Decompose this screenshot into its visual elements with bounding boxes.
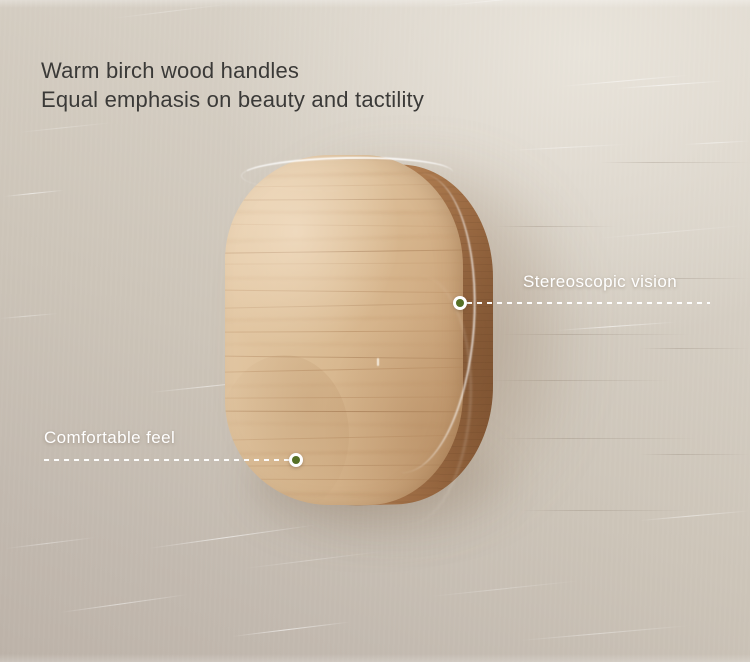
wall-streak: [4, 190, 64, 197]
annotation-marker-dot-stereoscopic-vision[interactable]: [453, 296, 467, 310]
product-feature-image: Warm birch wood handles Equal emphasis o…: [0, 0, 750, 662]
wall-streak: [640, 510, 750, 521]
wall-streak: [148, 524, 316, 549]
wall-streak: [556, 322, 676, 331]
wall-streak: [430, 580, 579, 597]
annotation-marker-dot-comfortable-feel[interactable]: [289, 453, 303, 467]
headline-line-2: Equal emphasis on beauty and tactility: [41, 85, 424, 114]
wall-streak: [684, 141, 750, 145]
bottom-edge-gradient: [0, 654, 750, 662]
wall-streak: [508, 144, 628, 151]
top-edge-gradient: [0, 0, 750, 8]
birch-wood-handle: [225, 155, 490, 510]
wall-streak: [0, 313, 58, 319]
wall-streak: [520, 625, 689, 641]
headline-line-1: Warm birch wood handles: [41, 56, 424, 85]
annotation-label-stereoscopic-vision: Stereoscopic vision: [523, 272, 677, 292]
annotation-leader-line-stereoscopic-vision: [467, 302, 710, 304]
headline: Warm birch wood handles Equal emphasis o…: [41, 56, 424, 115]
wall-streak: [60, 594, 189, 613]
annotation-label-comfortable-feel: Comfortable feel: [44, 428, 175, 448]
annotation-leader-line-comfortable-feel: [44, 459, 291, 461]
wall-streak: [18, 122, 113, 133]
wall-streak: [596, 225, 746, 239]
wall-streak: [6, 537, 95, 549]
wall-streak: [244, 551, 383, 569]
wall-streak: [232, 621, 351, 637]
wall-streak: [616, 80, 726, 89]
